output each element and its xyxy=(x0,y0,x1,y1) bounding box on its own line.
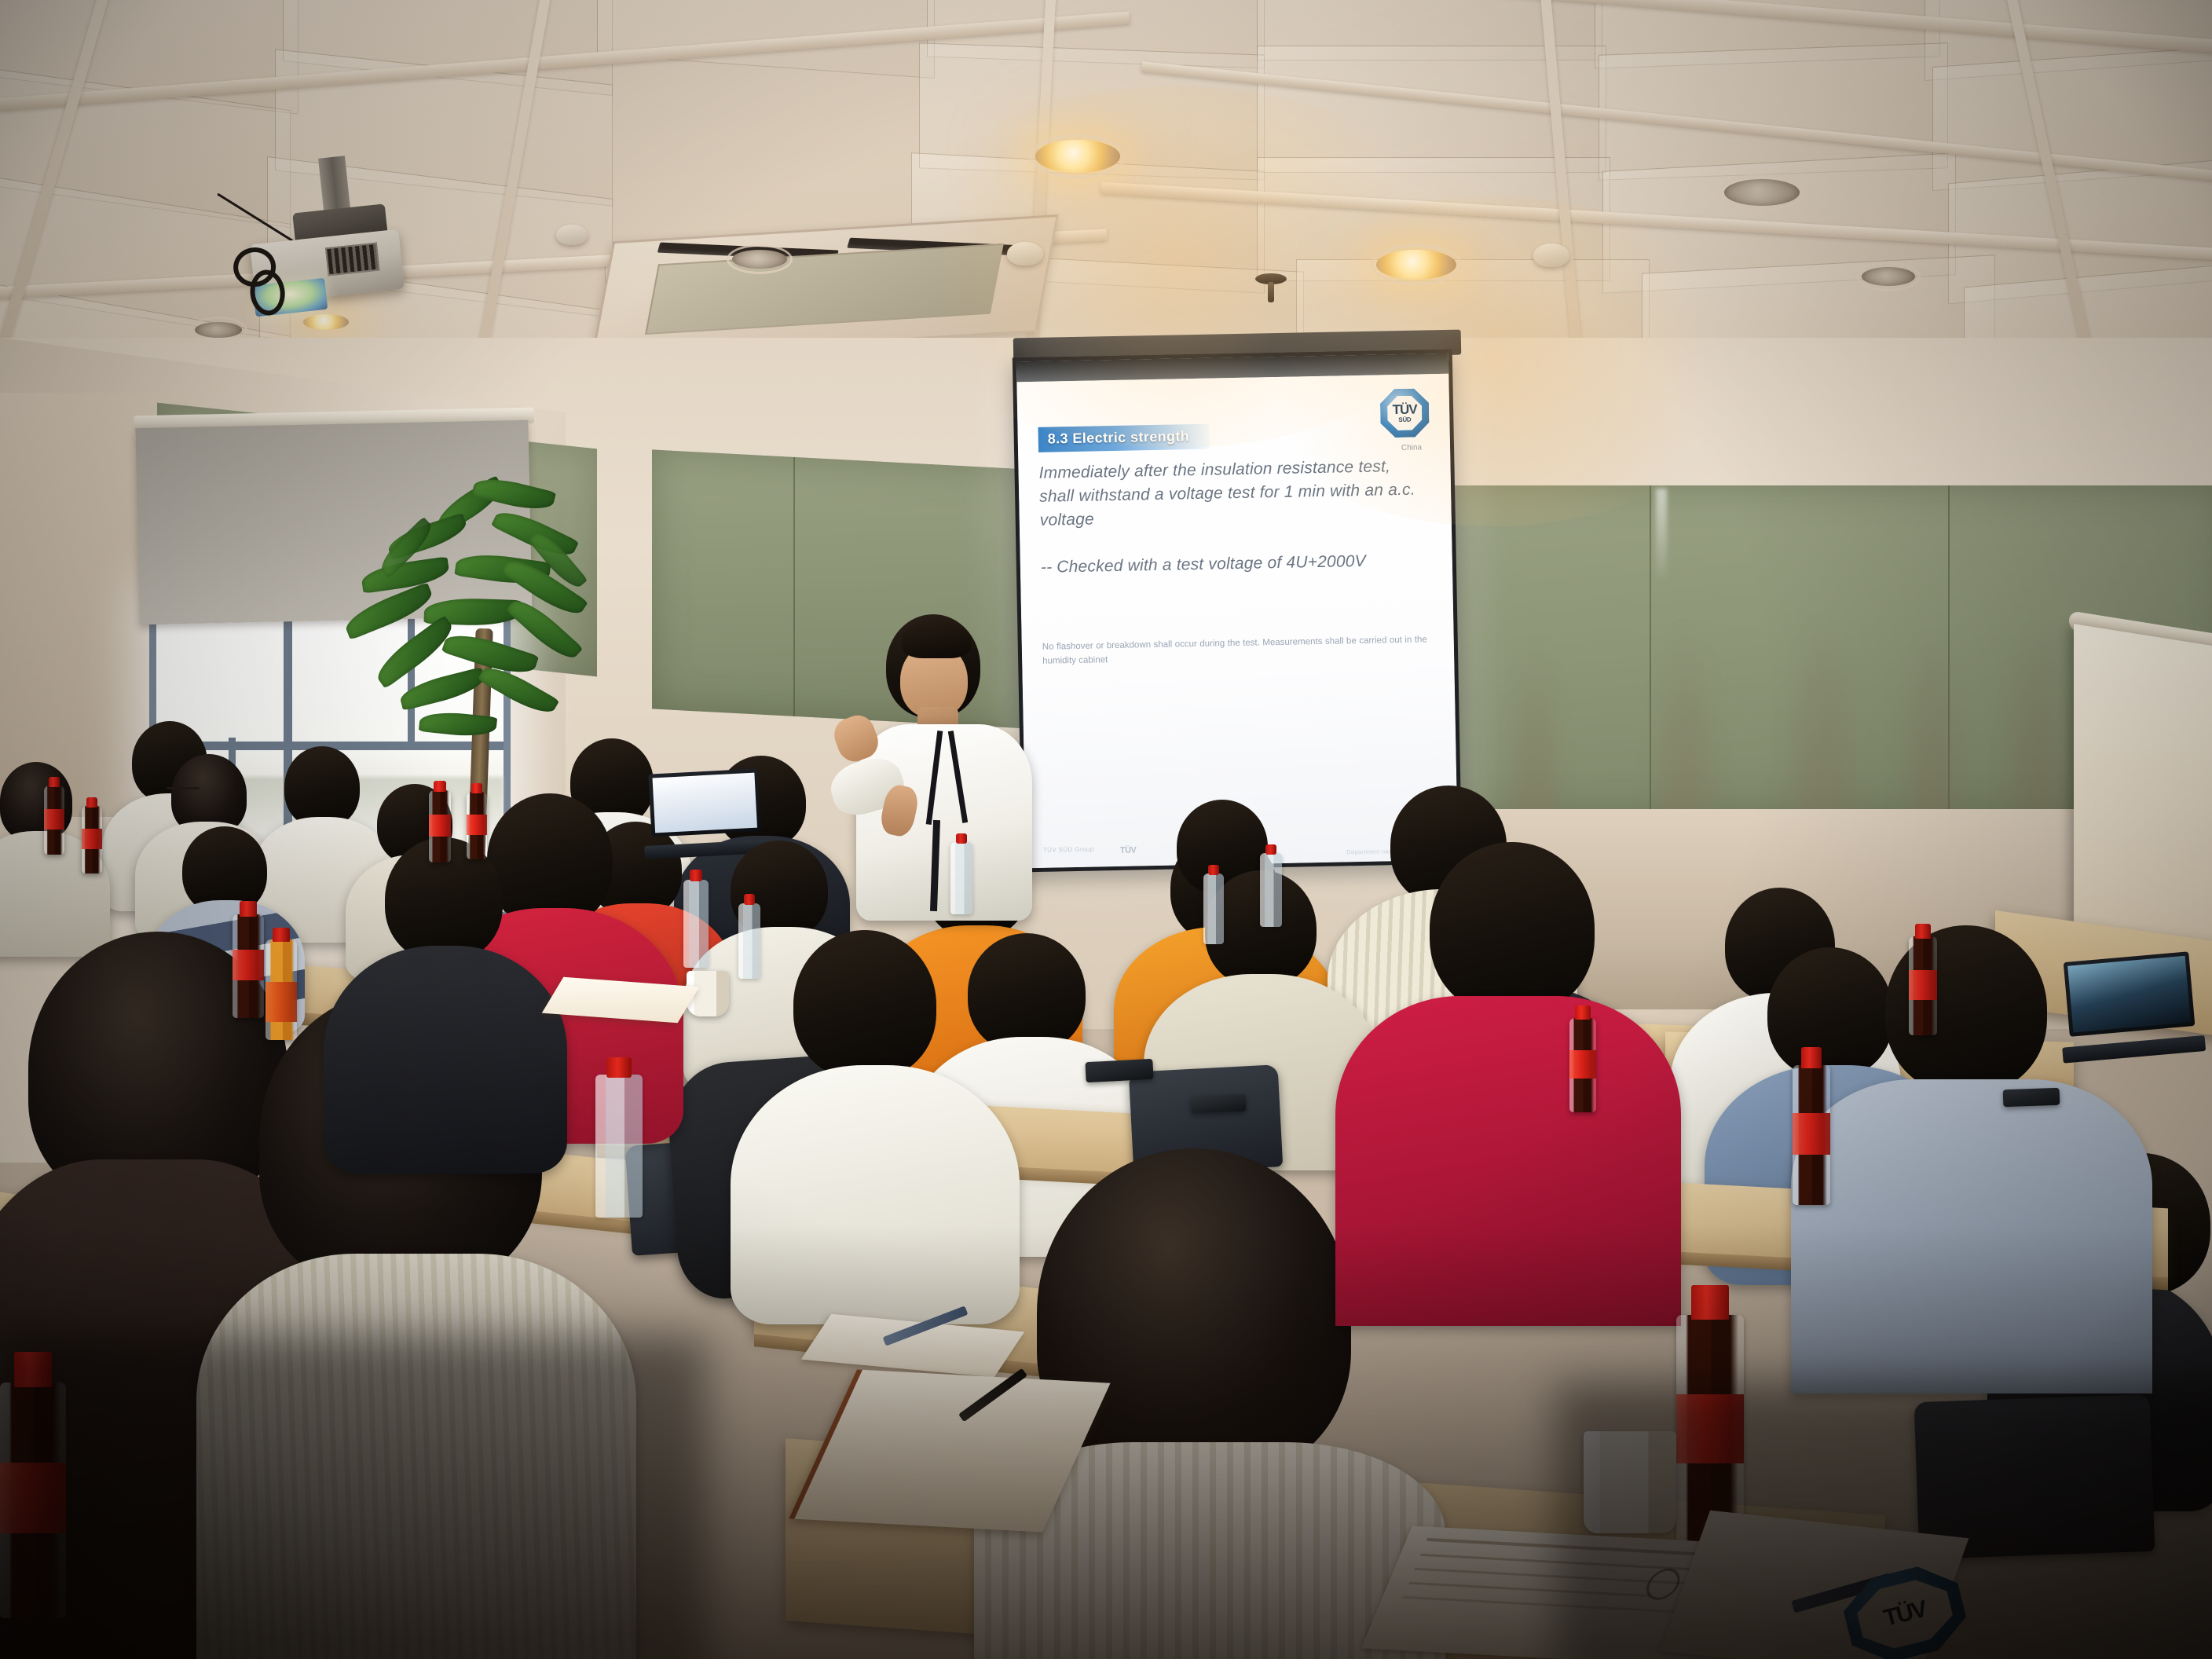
ceiling-downlight-off xyxy=(1862,267,1915,286)
sprinkler-head-icon xyxy=(1255,273,1287,284)
slide-note: No flashover or breakdown shall occur du… xyxy=(1042,633,1428,668)
water-bottle xyxy=(683,880,709,968)
smoke-detector-icon xyxy=(1533,244,1569,267)
classroom-photo: TÜV SÜD China 8.3 Electric strength Imme… xyxy=(0,0,2212,1659)
projection-screen: TÜV SÜD China 8.3 Electric strength Imme… xyxy=(1013,350,1462,873)
ceiling-downlight-off xyxy=(195,322,242,338)
water-bottle xyxy=(738,903,760,979)
coke-bottle xyxy=(44,786,64,855)
slide-title-bar: 8.3 Electric strength xyxy=(1038,424,1210,452)
smoke-detector-icon xyxy=(1007,242,1043,266)
ceiling-downlight xyxy=(1376,250,1456,280)
phone[interactable] xyxy=(2003,1088,2060,1107)
laptop[interactable] xyxy=(648,768,762,859)
phone[interactable] xyxy=(1191,1094,1247,1113)
water-bottle xyxy=(1260,853,1282,927)
coke-bottle xyxy=(233,914,264,1018)
slide-footer-logo: TÜV xyxy=(1120,846,1137,855)
presentation-slide: TÜV SÜD China 8.3 Electric strength Imme… xyxy=(1016,374,1458,868)
tuv-logo-country: China xyxy=(1401,443,1422,452)
laptop-video[interactable] xyxy=(2064,951,2198,1062)
coke-bottle xyxy=(1569,1018,1596,1112)
tuv-logo-main: TÜV xyxy=(1392,403,1416,417)
ceiling-downlight-off xyxy=(732,250,787,269)
juice-bottle xyxy=(266,939,297,1040)
slide-title: 8.3 Electric strength xyxy=(1048,428,1190,446)
tuv-logo-sub: SÜD xyxy=(1398,416,1411,423)
ceiling-downlight xyxy=(303,314,349,330)
coke-bottle xyxy=(429,790,451,862)
ceiling-projector xyxy=(230,188,414,323)
coke-bottle xyxy=(82,806,102,873)
coke-bottle xyxy=(1793,1065,1830,1205)
smoke-detector-icon xyxy=(556,225,588,245)
tuv-sud-logo-icon: TÜV SÜD xyxy=(1380,388,1430,438)
water-bottle xyxy=(1203,873,1224,944)
slide-footer-left: TÜV SÜD Group xyxy=(1043,846,1094,854)
coke-bottle xyxy=(467,792,487,859)
water-bottle-foreground xyxy=(595,1075,643,1218)
water-bottle xyxy=(950,842,972,914)
phone[interactable] xyxy=(1085,1059,1153,1082)
slide-bullet: -- Checked with a test voltage of 4U+200… xyxy=(1041,551,1432,578)
flipchart-easel xyxy=(2074,624,2212,963)
slide-body-line-2: shall withstand a voltage test for 1 min… xyxy=(1039,478,1431,532)
ceiling-downlight-off xyxy=(1724,179,1800,206)
ceiling-downlight xyxy=(1035,140,1120,173)
coke-bottle xyxy=(1909,936,1937,1035)
slide-body: Immediately after the insulation resista… xyxy=(1038,454,1431,532)
